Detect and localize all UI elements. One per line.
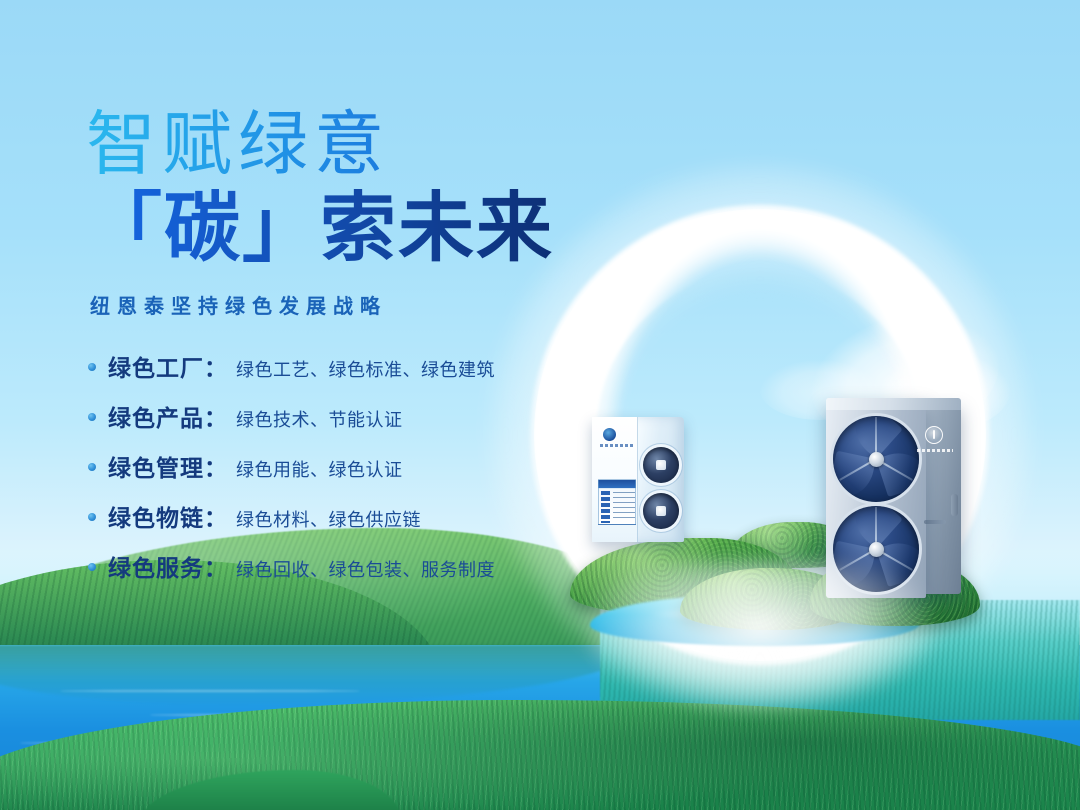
feature-desc: 绿色工艺、绿色标准、绿色建筑 <box>236 356 495 382</box>
headline-line-1: 智赋绿意 <box>86 108 556 181</box>
water-ripple <box>150 714 390 716</box>
headline-line-2: 「碳」索未来 <box>86 189 556 268</box>
energy-label <box>598 479 636 525</box>
water-ripple <box>20 742 210 744</box>
feature-label: 绿色产品 <box>108 399 204 433</box>
bullet-dot-icon <box>88 463 96 471</box>
brand-wordmark <box>600 444 634 447</box>
colon: ： <box>204 349 227 383</box>
unit-pipe <box>951 494 958 516</box>
unit-vent <box>924 520 946 524</box>
bullet-dot-icon <box>88 513 96 521</box>
bullet-dot-icon <box>88 413 96 421</box>
brand-wordmark <box>917 449 953 452</box>
poster-canvas: 智赋绿意 「碳」索未来 纽恩泰坚持绿色发展战略 绿色工厂 ： 绿色工艺、绿色标准… <box>0 0 1080 810</box>
fan-icon <box>833 416 919 502</box>
list-item: 绿色工厂 ： 绿色工艺、绿色标准、绿色建筑 <box>88 349 556 383</box>
ring-bottom-glow <box>590 560 930 710</box>
bullet-dot-icon <box>88 363 96 371</box>
fan-hub <box>869 542 884 557</box>
headline-block: 智赋绿意 「碳」索未来 纽恩泰坚持绿色发展战略 绿色工厂 ： 绿色工艺、绿色标准… <box>86 108 556 599</box>
feature-list: 绿色工厂 ： 绿色工艺、绿色标准、绿色建筑 绿色产品 ： 绿色技术、节能认证 绿… <box>88 349 556 583</box>
list-item: 绿色管理 ： 绿色用能、绿色认证 <box>88 449 556 483</box>
list-item: 绿色服务 ： 绿色回收、绿色包装、服务制度 <box>88 549 556 583</box>
feature-label: 绿色服务 <box>108 549 204 583</box>
feature-label: 绿色工厂 <box>108 349 204 383</box>
fan-icon <box>643 447 679 483</box>
feature-desc: 绿色技术、节能认证 <box>236 406 403 432</box>
brand-logo-icon <box>603 428 616 441</box>
grass-tuft <box>140 770 400 810</box>
residential-heat-pump-unit <box>592 417 684 542</box>
fan-icon <box>643 493 679 529</box>
unit-top-cover <box>826 398 961 410</box>
colon: ： <box>204 449 227 483</box>
subtitle: 纽恩泰坚持绿色发展战略 <box>90 290 556 319</box>
brand-logo-icon <box>925 426 943 444</box>
fan-hub <box>869 452 884 467</box>
list-item: 绿色产品 ： 绿色技术、节能认证 <box>88 399 556 433</box>
list-item: 绿色物链 ： 绿色材料、绿色供应链 <box>88 499 556 533</box>
feature-desc: 绿色回收、绿色包装、服务制度 <box>236 556 495 582</box>
feature-desc: 绿色用能、绿色认证 <box>236 456 403 482</box>
colon: ： <box>204 399 227 433</box>
feature-label: 绿色管理 <box>108 449 204 483</box>
water-ripple <box>60 690 360 692</box>
grass-field <box>0 700 1080 810</box>
feature-desc: 绿色材料、绿色供应链 <box>236 506 421 532</box>
feature-label: 绿色物链 <box>108 499 204 533</box>
bullet-dot-icon <box>88 563 96 571</box>
colon: ： <box>204 499 227 533</box>
colon: ： <box>204 549 227 583</box>
